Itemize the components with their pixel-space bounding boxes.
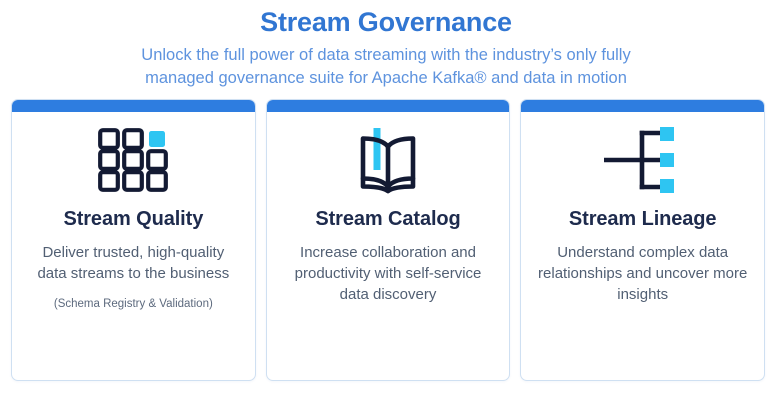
card-note: (Schema Registry & Validation) [44, 298, 223, 310]
lineage-branch-icon [604, 112, 682, 208]
card-title: Stream Catalog [315, 208, 460, 231]
card-title: Stream Lineage [569, 208, 717, 231]
card-stream-catalog[interactable]: Stream Catalog Increase collaboration an… [266, 99, 511, 381]
page-subtitle-line-2: managed governance suite for Apache Kafk… [48, 67, 724, 90]
card-title: Stream Quality [63, 208, 203, 231]
card-accent-bar [521, 100, 764, 112]
stream-governance-infographic: Stream Governance Unlock the full power … [0, 0, 772, 400]
card-accent-bar [267, 100, 510, 112]
page-subtitle: Unlock the full power of data streaming … [0, 44, 772, 90]
card-description: Increase collaboration and productivity … [267, 242, 510, 305]
feature-card-row: Stream Quality Deliver trusted, high-qua… [11, 99, 765, 381]
card-description: Deliver trusted, high-quality data strea… [12, 242, 255, 284]
page-title: Stream Governance [0, 6, 772, 38]
header: Stream Governance Unlock the full power … [0, 6, 772, 90]
card-stream-quality[interactable]: Stream Quality Deliver trusted, high-qua… [11, 99, 256, 381]
card-description: Understand complex data relationships an… [521, 242, 764, 305]
card-stream-lineage[interactable]: Stream Lineage Understand complex data r… [520, 99, 765, 381]
open-book-icon [350, 112, 426, 208]
card-accent-bar [12, 100, 255, 112]
page-subtitle-line-1: Unlock the full power of data streaming … [48, 44, 724, 67]
grid-3x3-icon [97, 112, 169, 208]
